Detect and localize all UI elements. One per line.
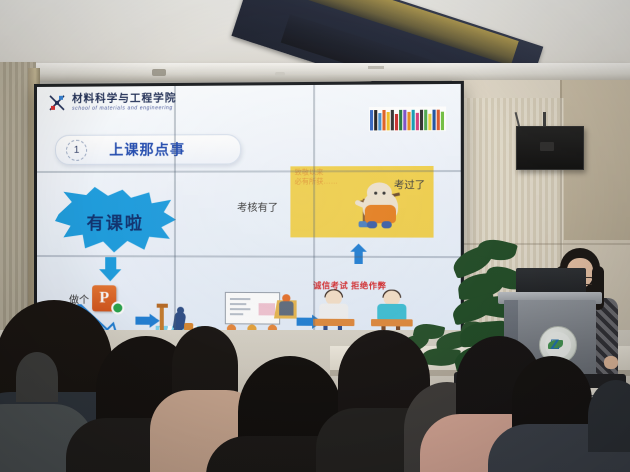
- burst-text: 有课啦: [55, 187, 176, 256]
- video-wall-seam: [174, 86, 176, 336]
- figure-head: [367, 182, 392, 202]
- audience-member-head: [16, 352, 58, 402]
- section-number-badge: 1: [66, 139, 87, 160]
- burst-callout: 有课啦: [55, 187, 176, 256]
- compass-star-logo-icon: [47, 93, 67, 113]
- slide-thumbnail: [259, 303, 275, 315]
- video-wall-seam: [313, 85, 315, 337]
- speaker-grill: [540, 142, 554, 151]
- presentation-slide: 材料科学与工程学院 school of materials and engine…: [37, 84, 461, 338]
- video-wall-seam: [37, 255, 461, 258]
- ceiling-light-icon: [275, 72, 285, 76]
- down-arrow-head: [99, 269, 121, 281]
- exam-result-panel: 致敬以来必有所获…… 考过了: [290, 166, 433, 238]
- video-wall-display[interactable]: 材料科学与工程学院 school of materials and engine…: [34, 81, 464, 341]
- cartoon-weightlifter-icon: [352, 180, 406, 231]
- institution-name-cn: 材料科学与工程学院: [72, 93, 176, 105]
- ceiling-vent-icon: [152, 69, 166, 76]
- institution-logo: 材料科学与工程学院 school of materials and engine…: [47, 92, 176, 113]
- bookshelf-icon: [369, 107, 446, 132]
- institution-name-en: school of materials and engineering: [72, 105, 176, 112]
- slide-title-bar: 1 上课那点事: [55, 134, 241, 165]
- lecture-hall-photo: 材料科学与工程学院 school of materials and engine…: [0, 0, 630, 472]
- ceiling-light-strip: [368, 66, 384, 69]
- audience-member-head: [588, 380, 630, 452]
- presenter-hand: [604, 356, 618, 369]
- teacher-body: [279, 301, 293, 315]
- street-pole-top: [157, 304, 168, 308]
- student-desk: [313, 319, 354, 326]
- assessment-text: 考核有了: [237, 199, 278, 214]
- whiteboard-icon: [225, 292, 280, 325]
- ceiling-beam: [0, 63, 630, 81]
